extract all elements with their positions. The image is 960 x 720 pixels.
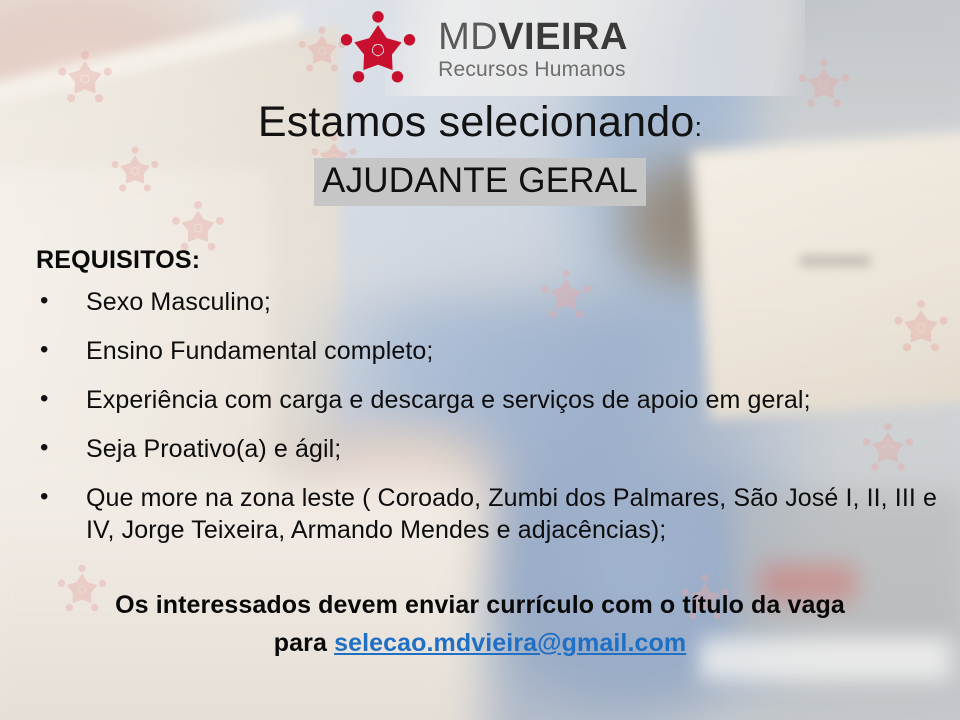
requirement-text: Experiência com carga e descarga e servi… [86, 384, 811, 416]
requirements-heading: REQUISITOS: [36, 246, 200, 275]
headline-label: Estamos selecionando [258, 98, 695, 146]
brand-name: MDVIEIRA [438, 18, 628, 57]
bullet-dot-icon: • [36, 433, 86, 465]
bullet-dot-icon: • [36, 384, 86, 416]
requirement-text: Sexo Masculino; [86, 286, 271, 318]
requirement-text: Que more na zona leste ( Coroado, Zumbi … [86, 482, 941, 546]
requirement-item: •Experiência com carga e descarga e serv… [36, 384, 941, 416]
requirement-item: •Seja Proativo(a) e ágil; [36, 433, 941, 465]
bullet-dot-icon: • [36, 335, 86, 367]
instructions-prefix: para [274, 629, 334, 657]
bullet-dot-icon: • [36, 286, 86, 318]
brand-name-md: MD [438, 16, 498, 58]
headline-text: Estamos selecionando: [0, 98, 960, 147]
role-title-container: AJUDANTE GERAL [0, 158, 960, 206]
requirement-item: •Ensino Fundamental completo; [36, 335, 941, 367]
job-role-title: AJUDANTE GERAL [314, 158, 646, 206]
requirement-item: •Sexo Masculino; [36, 286, 941, 318]
email-link[interactable]: selecao.mdvieira@gmail.com [334, 629, 686, 657]
requirements-list: •Sexo Masculino;•Ensino Fundamental comp… [36, 286, 941, 563]
instructions-line-2: para selecao.mdvieira@gmail.com [0, 626, 960, 660]
brand-tagline: Recursos Humanos [438, 58, 628, 82]
brand-header: MDVIEIRA Recursos Humanos [0, 4, 960, 96]
requirement-item: •Que more na zona leste ( Coroado, Zumbi… [36, 482, 941, 546]
headline-colon: : [694, 112, 702, 142]
requirement-text: Ensino Fundamental completo; [86, 335, 433, 367]
application-instructions: Os interessados devem enviar currículo c… [0, 588, 960, 660]
brand-name-vieira: VIEIRA [498, 16, 628, 58]
instructions-line-1: Os interessados devem enviar currículo c… [0, 588, 960, 622]
job-posting-poster: MDVIEIRA Recursos Humanos Estamos seleci… [0, 0, 960, 720]
brand-wordmark: MDVIEIRA Recursos Humanos [438, 18, 628, 82]
five-people-star-icon [332, 4, 424, 96]
bullet-dot-icon: • [36, 482, 86, 546]
requirement-text: Seja Proativo(a) e ágil; [86, 433, 341, 465]
